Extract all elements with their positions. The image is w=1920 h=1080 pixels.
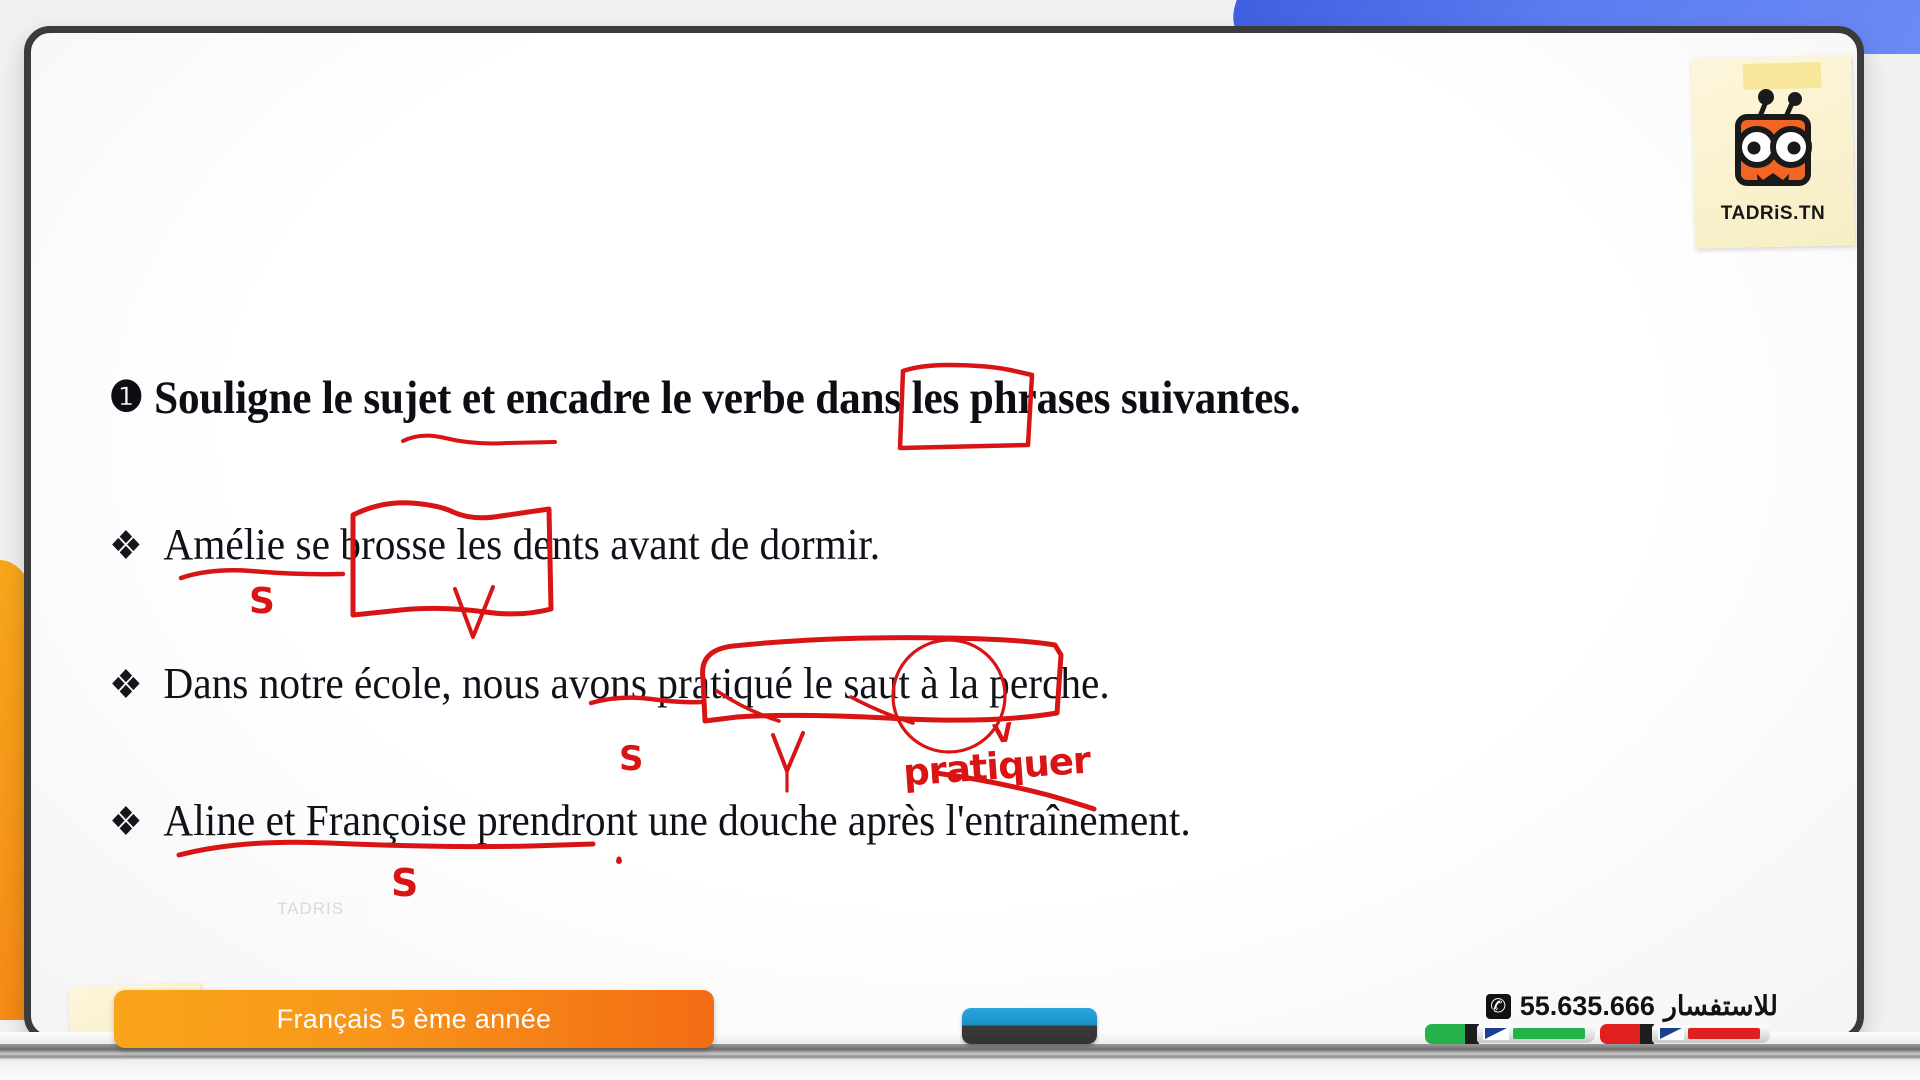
instruction-part-1: Souligne le <box>154 372 363 424</box>
sentence-2-rest: le saut à la perche. <box>793 659 1110 708</box>
bullet-icon: ❖ <box>109 799 143 844</box>
instruction-part-2: et encadre le <box>451 372 702 424</box>
sentence-1-subject: Amélie <box>163 520 285 569</box>
whiteboard: TADRIS <box>24 26 1864 1042</box>
exercise-instruction: ❶ Souligne le sujet et encadre le verbe … <box>109 371 1544 425</box>
contact-phone: 55.635.666 <box>1520 991 1655 1022</box>
slide-canvas: TADRIS <box>0 0 1920 1080</box>
annotation-s2-infinitive: pratiquer <box>902 739 1092 795</box>
sentence-1-rest: les dents avant de dormir. <box>446 520 880 569</box>
bullet-icon: ❖ <box>109 523 143 568</box>
contact-label: للاستفسار <box>1664 991 1778 1022</box>
phone-icon <box>1486 994 1511 1019</box>
sentence-3-rest: prendront une douche après l'entraînemen… <box>467 796 1191 845</box>
red-marker-cap <box>1600 1024 1642 1044</box>
instruction-part-3: dans les phrases suivantes <box>805 372 1290 424</box>
annotation-s3-subject-label: S <box>391 861 418 905</box>
sentence-2-verb: avons pratiqué <box>550 659 792 708</box>
sentence-1-verb: se brosse <box>295 520 445 569</box>
sentence-2-subject: nous <box>462 659 540 708</box>
green-marker-flag <box>1483 1027 1509 1040</box>
sentence-2-lead: Dans notre école, <box>163 659 462 708</box>
sentence-2: ❖Dans notre école, nous avons pratiqué l… <box>109 658 1575 709</box>
instruction-verbe: verbe <box>702 372 804 424</box>
sentence-1: ❖Amélie se brosse les dents avant de dor… <box>109 519 1575 570</box>
red-marker-flag <box>1658 1027 1684 1040</box>
annotation-s2-subject-label: S <box>619 739 644 779</box>
course-title-bar: Français 5 ème année <box>114 990 714 1048</box>
green-marker-cap <box>1425 1024 1467 1044</box>
red-marker-stripe <box>1688 1028 1760 1039</box>
sentence-3-subject: Aline et Françoise <box>163 796 466 845</box>
instruction-sujet: sujet <box>363 372 451 424</box>
instruction-period: . <box>1290 372 1301 424</box>
annotation-s1-subject-label: S <box>249 581 275 622</box>
sentence-3: ❖Aline et Françoise prendront une douche… <box>109 795 1575 846</box>
green-marker-stripe <box>1513 1028 1585 1039</box>
contact-info: للاستفسار 55.635.666 <box>1486 991 1778 1022</box>
bullet-icon: ❖ <box>109 662 143 707</box>
exercise-number: ❶ <box>109 375 143 421</box>
lesson-content: ❶ Souligne le sujet et encadre le verbe … <box>31 33 1857 1035</box>
course-title-label: Français 5 ème année <box>277 1004 552 1035</box>
whiteboard-eraser[interactable] <box>962 1008 1097 1044</box>
